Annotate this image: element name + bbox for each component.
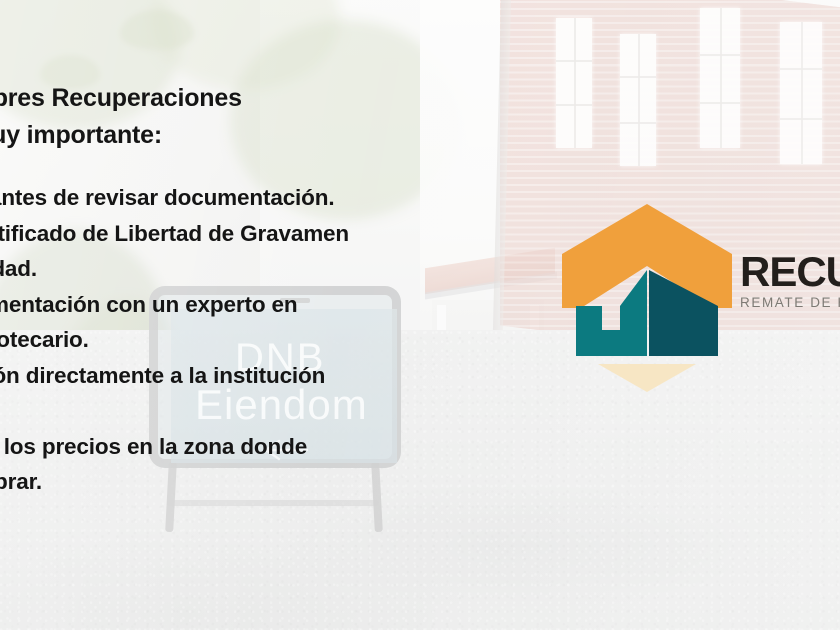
recupera-logo: RECU REMATE DE HIPOT: [558, 196, 840, 396]
promo-slide: DNB Eiendom do compres Recuperaciones ar…: [0, 0, 840, 630]
logo-wordmark: RECU: [740, 250, 840, 294]
photo-window-1: [556, 18, 592, 148]
photo-window-4: [780, 22, 822, 164]
sign-cross-rail: [167, 500, 379, 506]
photo-leaf-2: [120, 10, 194, 50]
photo-window-2: [620, 34, 656, 166]
bullet-line: n la cesión directamente a la institució…: [0, 358, 525, 394]
bullet-line: sa documentación con un experto en: [0, 287, 525, 323]
house-chevron-logo-icon: [558, 196, 736, 392]
photo-window-3: [700, 8, 740, 148]
logo-tagline: REMATE DE HIPOT: [740, 295, 840, 310]
bullet-line: a propiedad.: [0, 251, 525, 287]
bullet-block: pagues antes de revisar documentación. s…: [0, 180, 525, 500]
bullet-line: echo hipotecario.: [0, 322, 525, 358]
bullet-line: eas comprar.: [0, 464, 525, 500]
bullet-line: sa el Certificado de Libertad de Gravame…: [0, 216, 525, 252]
headline-line-2: arias muy importante:: [0, 117, 525, 154]
bullet-line: pagues antes de revisar documentación.: [0, 180, 525, 216]
bullet-line: rmate de los precios en la zona donde: [0, 429, 525, 465]
bullet-line: caria.: [0, 393, 525, 429]
headline-line-1: do compres Recuperaciones: [0, 80, 525, 117]
logo-wordmark-block: RECU REMATE DE HIPOT: [740, 250, 840, 310]
slide-copy: do compres Recuperaciones arias muy impo…: [0, 80, 525, 500]
headline-block: do compres Recuperaciones arias muy impo…: [0, 80, 525, 154]
